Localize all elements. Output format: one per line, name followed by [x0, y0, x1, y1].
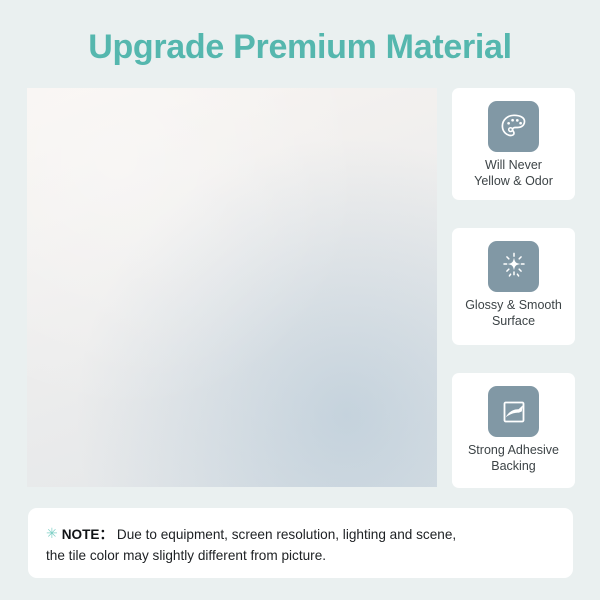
note-label: NOTE	[62, 527, 100, 542]
note-line-2: the tile color may slightly different fr…	[46, 545, 555, 566]
feature-card-strong-adhesive[interactable]: Strong Adhesive Backing	[452, 373, 575, 488]
feature-card-glossy-smooth[interactable]: Glossy & Smooth Surface	[452, 228, 575, 345]
tile-pattern-rotator	[27, 88, 437, 487]
note-line-1: ✳NOTE： Due to equipment, screen resoluti…	[46, 523, 555, 545]
peel-adhesive-icon	[488, 386, 539, 437]
tile-grout-grid	[27, 88, 437, 487]
product-tile-photo	[27, 88, 437, 487]
asterisk-icon: ✳	[46, 525, 58, 541]
note-separator: ：	[100, 527, 114, 542]
note-disclaimer-box: ✳NOTE： Due to equipment, screen resoluti…	[28, 508, 573, 578]
feature-card-label: Strong Adhesive Backing	[458, 443, 569, 474]
paint-palette-icon	[488, 101, 539, 152]
feature-card-label: Will Never Yellow & Odor	[458, 158, 569, 189]
feature-card-label: Glossy & Smooth Surface	[458, 298, 569, 329]
note-text-line-2: the tile color may slightly different fr…	[46, 548, 326, 563]
sparkle-shine-icon	[488, 241, 539, 292]
note-text-line-1: Due to equipment, screen resolution, lig…	[117, 527, 456, 542]
page-title: Upgrade Premium Material	[0, 26, 600, 68]
feature-card-yellow-odor[interactable]: Will Never Yellow & Odor	[452, 88, 575, 200]
